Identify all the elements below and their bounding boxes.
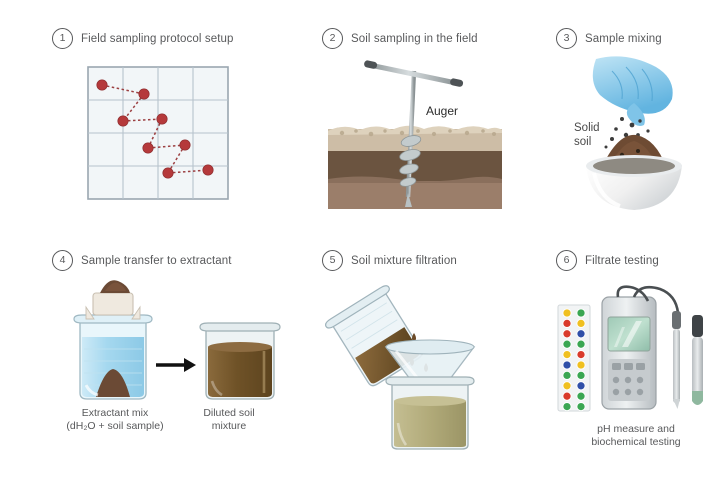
panel-1-title: Field sampling protocol setup xyxy=(81,33,233,45)
right-caption-line2: mixture xyxy=(170,420,288,433)
panel-6-title: Filtrate testing xyxy=(585,255,659,267)
panel-4-right-caption: Diluted soil mixture xyxy=(170,407,288,433)
microplate-well xyxy=(563,309,571,317)
panel-1-header: 1 Field sampling protocol setup xyxy=(52,28,234,49)
right-caption-line1: Diluted soil xyxy=(170,407,288,420)
microplate-well xyxy=(577,340,585,348)
panel-5-header: 5 Soil mixture filtration xyxy=(322,250,516,271)
transfer-arrow xyxy=(156,358,196,372)
panel-5-title: Soil mixture filtration xyxy=(351,255,457,267)
panel-6-caption-line1: pH measure and xyxy=(556,423,716,436)
panel-4-sample-transfer-to-extractant: 4 Sample transfer to extractant xyxy=(52,250,290,433)
panel-2-soil-sampling-in-the-field: 2 Soil sampling in the field xyxy=(322,28,508,219)
step-number-6: 6 xyxy=(556,250,577,271)
pouring-through-funnel-graphic xyxy=(326,277,516,447)
microplate-well xyxy=(563,361,571,369)
step-number-1: 1 xyxy=(52,28,73,49)
panel-6-header: 6 Filtrate testing xyxy=(556,250,716,271)
microplate-well xyxy=(577,371,585,379)
microplate-well xyxy=(563,403,571,411)
microplate-well xyxy=(563,340,571,348)
microplate-well xyxy=(577,403,585,411)
panel-4-title: Sample transfer to extractant xyxy=(81,255,232,267)
left-caption-line1: Extractant mix xyxy=(60,407,170,420)
panel-6-caption-line2: biochemical testing xyxy=(556,436,716,449)
sampling-grid-graphic xyxy=(84,63,234,205)
auger-in-soil-graphic: Auger xyxy=(322,57,508,219)
panel-5-soil-mixture-filtration: 5 Soil mixture filtration xyxy=(322,250,516,447)
step-number-5: 5 xyxy=(322,250,343,271)
solid-soil-label-line1: Solid xyxy=(574,122,600,134)
step-number-2: 2 xyxy=(322,28,343,49)
microplate-well xyxy=(577,392,585,400)
panel-4-header: 4 Sample transfer to extractant xyxy=(52,250,290,271)
microplate-well xyxy=(577,330,585,338)
panel-2-header: 2 Soil sampling in the field xyxy=(322,28,508,49)
ph-meter-microplate-graphic xyxy=(556,287,716,415)
panel-4-left-caption: Extractant mix (dH₂O + soil sample) xyxy=(60,407,170,433)
microplate-well xyxy=(563,382,571,390)
two-beakers-arrow-graphic xyxy=(60,285,290,403)
panel-3-title: Sample mixing xyxy=(585,33,662,45)
step-number-4: 4 xyxy=(52,250,73,271)
panel-2-title: Soil sampling in the field xyxy=(351,33,478,45)
panel-3-header: 3 Sample mixing xyxy=(556,28,710,49)
microplate-well xyxy=(563,371,571,379)
microplate-well xyxy=(577,382,585,390)
microplate-well xyxy=(563,319,571,327)
panel-3-sample-mixing: 3 Sample mixing xyxy=(556,28,710,215)
panel-6-filtrate-testing: 6 Filtrate testing xyxy=(556,250,716,449)
panel-6-caption: pH measure and biochemical testing xyxy=(556,423,716,449)
auger-label: Auger xyxy=(426,104,458,118)
microplate-well xyxy=(563,330,571,338)
microplate-well xyxy=(577,351,585,359)
gloved-hand-bowl-graphic: Solid soil xyxy=(560,55,710,215)
microplate-well xyxy=(577,309,585,317)
left-caption-line2: (dH₂O + soil sample) xyxy=(60,420,170,433)
microplate-well xyxy=(577,361,585,369)
microplate-well xyxy=(563,392,571,400)
step-number-3: 3 xyxy=(556,28,577,49)
microplate-well xyxy=(577,319,585,327)
panel-1-field-sampling-protocol-setup: 1 Field sampling protocol setup xyxy=(52,28,234,205)
microplate-well xyxy=(563,351,571,359)
solid-soil-label-line2: soil xyxy=(574,136,591,148)
